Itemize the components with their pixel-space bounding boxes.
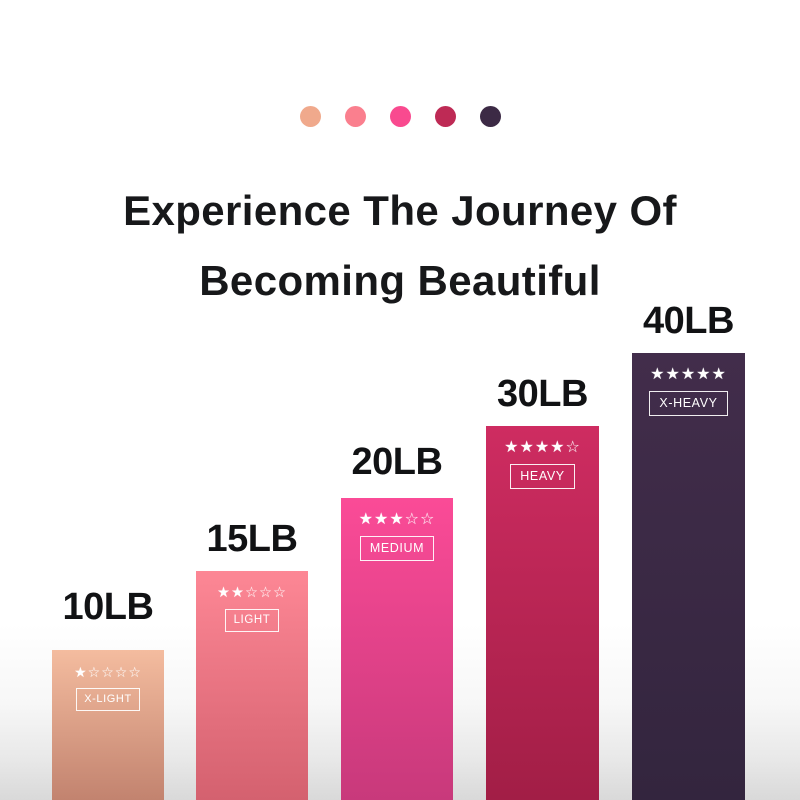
tier-badge: LIGHT xyxy=(225,609,280,632)
star-rating-icon: ★☆☆☆☆ xyxy=(74,662,142,682)
bar-group-heavy[interactable]: 30LB★★★★☆HEAVY xyxy=(486,373,599,800)
bar-group-medium[interactable]: 20LB★★★☆☆MEDIUM xyxy=(341,441,453,800)
tier-badge: X-HEAVY xyxy=(649,391,727,416)
resistance-bar[interactable]: ★★★★★X-HEAVY xyxy=(632,353,745,800)
bar-weight-label: 30LB xyxy=(497,373,588,416)
bar-weight-label: 10LB xyxy=(63,586,154,629)
bar-weight-label: 20LB xyxy=(352,441,443,484)
tier-badge: MEDIUM xyxy=(360,536,434,561)
bar-group-x-light[interactable]: 10LB★☆☆☆☆X-LIGHT xyxy=(52,586,164,800)
resistance-bar-chart: 10LB★☆☆☆☆X-LIGHT15LB★★☆☆☆LIGHT20LB★★★☆☆M… xyxy=(0,0,800,800)
bar-content: ★★☆☆☆LIGHT xyxy=(196,583,308,632)
product-infographic-poster: Experience The Journey Of Becoming Beaut… xyxy=(0,0,800,800)
bar-content: ★★★★★X-HEAVY xyxy=(632,365,745,416)
star-rating-icon: ★★★★★ xyxy=(650,365,727,385)
bar-group-x-heavy[interactable]: 40LB★★★★★X-HEAVY xyxy=(632,300,745,800)
star-rating-icon: ★★★☆☆ xyxy=(359,510,436,530)
star-rating-icon: ★★☆☆☆ xyxy=(217,583,287,603)
tier-badge: X-LIGHT xyxy=(76,688,140,711)
bar-content: ★★★☆☆MEDIUM xyxy=(341,510,453,561)
bar-weight-label: 40LB xyxy=(643,300,734,343)
bar-weight-label: 15LB xyxy=(207,518,298,561)
resistance-bar[interactable]: ★★★★☆HEAVY xyxy=(486,426,599,800)
bar-group-light[interactable]: 15LB★★☆☆☆LIGHT xyxy=(196,518,308,800)
tier-badge: HEAVY xyxy=(510,464,574,489)
star-rating-icon: ★★★★☆ xyxy=(504,438,581,458)
resistance-bar[interactable]: ★☆☆☆☆X-LIGHT xyxy=(52,650,164,800)
resistance-bar[interactable]: ★★☆☆☆LIGHT xyxy=(196,571,308,800)
bar-content: ★☆☆☆☆X-LIGHT xyxy=(52,662,164,711)
bar-content: ★★★★☆HEAVY xyxy=(486,438,599,489)
resistance-bar[interactable]: ★★★☆☆MEDIUM xyxy=(341,498,453,800)
